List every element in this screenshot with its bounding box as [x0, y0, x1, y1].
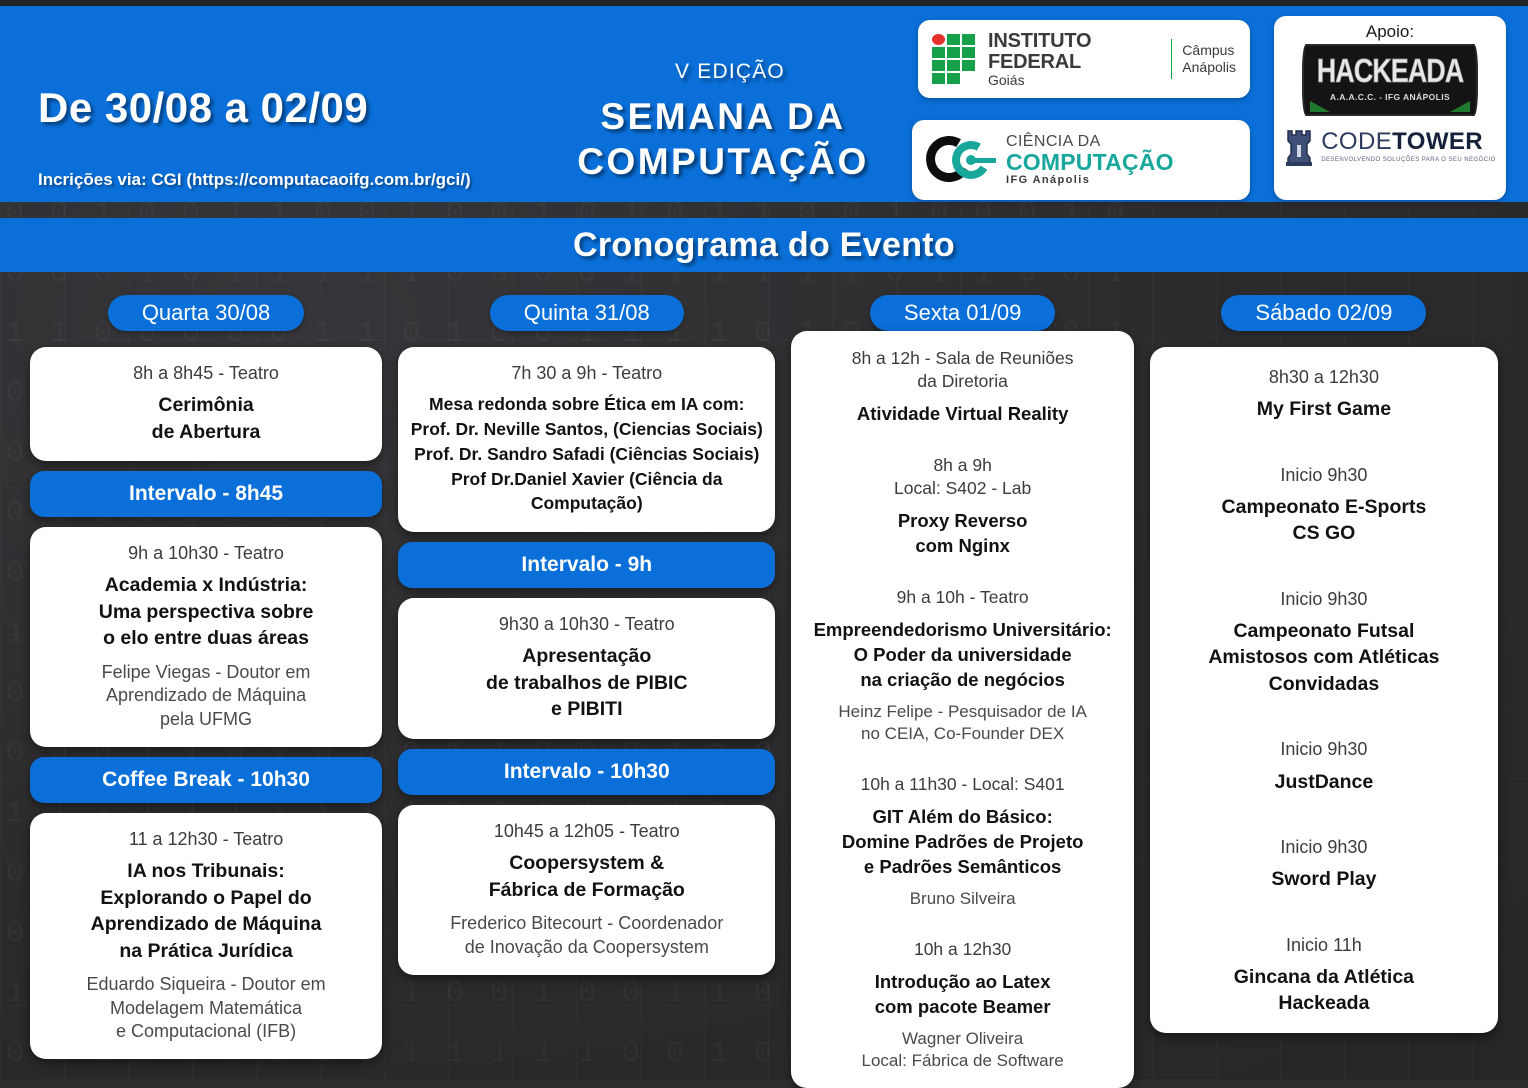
session-card[interactable]: 8h a 8h45 - TeatroCerimôniade Abertura: [30, 347, 382, 461]
session-title: Empreendedorismo Universitário:O Poder d…: [803, 617, 1121, 692]
session-time: Inicio 9h30: [1162, 835, 1486, 859]
session-title: Introdução ao Latexcom pacote Beamer: [803, 969, 1121, 1019]
day-column-3: Sexta 01/098h a 12h - Sala de Reuniõesda…: [783, 272, 1141, 1080]
session-card[interactable]: 9h a 10h30 - TeatroAcademia x Indústria:…: [30, 527, 382, 747]
session-time: 8h a 12h - Sala de Reuniõesda Diretoria: [803, 347, 1121, 394]
session-entry: 8h a 9hLocal: S402 - LabProxy Reversocom…: [803, 454, 1121, 558]
hackeada-wing-left-icon: [1310, 101, 1330, 112]
hackeada-logo: HACKEADA A.A.A.C.C. - IFG ANÁPOLIS: [1302, 44, 1478, 116]
instituto-federal-campus-line-2: Anápolis: [1182, 59, 1236, 77]
session-title: Campeonato E-SportsCS GO: [1162, 494, 1486, 547]
session-entry: 8h a 12h - Sala de Reuniõesda DiretoriaA…: [803, 347, 1121, 426]
session-title: My First Game: [1162, 396, 1486, 423]
session-entry: 10h a 12h30Introdução ao Latexcom pacote…: [803, 938, 1121, 1072]
session-spacer: [1162, 423, 1486, 463]
session-title: IA nos Tribunais:Explorando o Papel doAp…: [42, 858, 370, 964]
session-time: 9h a 10h - Teatro: [803, 586, 1121, 609]
event-name-line-1: SEMANA DA: [518, 94, 928, 139]
logo-divider: [1171, 39, 1173, 79]
day-column-4: Sábado 02/098h30 a 12h30My First GameIni…: [1142, 272, 1506, 1080]
session-speaker: Felipe Viegas - Doutor emAprendizado de …: [42, 661, 370, 731]
schedule-columns: Quarta 30/088h a 8h45 - TeatroCerimôniad…: [0, 272, 1528, 1080]
poster-header: De 30/08 a 02/09 Incrições via: CGI (htt…: [0, 6, 1528, 202]
session-title: JustDance: [1162, 769, 1486, 796]
session-title: GIT Além do Básico:Domine Padrões de Pro…: [803, 804, 1121, 879]
session-title: Apresentaçãode trabalhos de PIBICe PIBIT…: [410, 643, 763, 723]
event-name: SEMANA DA COMPUTAÇÃO: [518, 94, 928, 184]
session-spacer: [1162, 547, 1486, 587]
session-title: Cerimôniade Abertura: [42, 392, 370, 445]
session-card[interactable]: 7h 30 a 9h - TeatroMesa redonda sobre Ét…: [398, 347, 775, 532]
session-card[interactable]: 8h30 a 12h30My First GameInicio 9h30Camp…: [1150, 347, 1498, 1033]
session-time: 7h 30 a 9h - Teatro: [410, 361, 763, 385]
session-time: Inicio 11h: [1162, 933, 1486, 957]
session-entry: Inicio 11hGincana da AtléticaHackeada: [1162, 933, 1486, 1017]
session-spacer: [803, 910, 1121, 938]
session-entry: 9h a 10h - TeatroEmpreendedorismo Univer…: [803, 586, 1121, 745]
codetower-word-code: CODE: [1321, 128, 1392, 155]
session-entry: 11 a 12h30 - TeatroIA nos Tribunais:Expl…: [42, 827, 370, 1043]
codetower-tagline: DESENVOLVENDO SOLUÇÕES PARA O SEU NEGÓCI…: [1321, 157, 1496, 163]
session-speaker: Bruno Silveira: [803, 888, 1121, 910]
session-title: Campeonato FutsalAmistosos com Atléticas…: [1162, 618, 1486, 698]
session-time: Inicio 9h30: [1162, 737, 1486, 761]
session-time: 9h a 10h30 - Teatro: [42, 541, 370, 565]
break-bar[interactable]: Intervalo - 10h30: [398, 749, 775, 795]
session-card[interactable]: 9h30 a 10h30 - TeatroApresentaçãode trab…: [398, 598, 775, 739]
instituto-federal-logo: INSTITUTO FEDERAL Goiás Câmpus Anápolis: [918, 20, 1250, 98]
session-time: Inicio 9h30: [1162, 587, 1486, 611]
session-spacer: [1162, 697, 1486, 737]
break-bar[interactable]: Intervalo - 8h45: [30, 471, 382, 517]
schedule-banner-title: Cronograma do Evento: [573, 226, 955, 265]
session-spacer: [803, 558, 1121, 586]
session-title: Mesa redonda sobre Ética em IA com:Prof.…: [410, 392, 763, 516]
session-title: Academia x Indústria:Uma perspectiva sob…: [42, 572, 370, 652]
cc-line-2: COMPUTAÇÃO: [1006, 151, 1174, 175]
instituto-federal-state: Goiás: [988, 73, 1161, 88]
session-spacer: [1162, 893, 1486, 933]
session-entry: Inicio 9h30Campeonato FutsalAmistosos co…: [1162, 587, 1486, 698]
session-title: Proxy Reversocom Nginx: [803, 508, 1121, 558]
session-entry: 8h a 8h45 - TeatroCerimôniade Abertura: [42, 361, 370, 445]
day-column-1: Quarta 30/088h a 8h45 - TeatroCerimôniad…: [22, 272, 390, 1080]
session-spacer: [1162, 795, 1486, 835]
session-entry: 10h a 11h30 - Local: S401GIT Além do Bás…: [803, 773, 1121, 910]
instituto-federal-grid-icon: [932, 34, 978, 84]
session-time: 10h a 11h30 - Local: S401: [803, 773, 1121, 796]
session-spacer: [803, 426, 1121, 454]
session-title: Atividade Virtual Reality: [803, 401, 1121, 426]
hackeada-name: HACKEADA: [1317, 55, 1464, 89]
cc-line-3: IFG Anápolis: [1006, 175, 1174, 186]
ciencia-computacao-logo: CIÊNCIA DA COMPUTAÇÃO IFG Anápolis: [912, 120, 1250, 200]
session-title: Gincana da AtléticaHackeada: [1162, 964, 1486, 1017]
day-header-pill[interactable]: Quarta 30/08: [108, 295, 304, 331]
chess-rook-icon: [1284, 125, 1314, 167]
session-entry: Inicio 9h30JustDance: [1162, 737, 1486, 795]
sponsors-card: Apoio: HACKEADA A.A.A.C.C. - IFG ANÁPOLI…: [1274, 16, 1506, 200]
top-dark-strip: [0, 0, 1528, 6]
session-time: 8h a 8h45 - Teatro: [42, 361, 370, 385]
event-dates-title: De 30/08 a 02/09: [38, 84, 368, 132]
session-card[interactable]: 10h45 a 12h05 - TeatroCoopersystem &Fábr…: [398, 805, 775, 975]
day-header-pill[interactable]: Sábado 02/09: [1221, 295, 1426, 331]
day-header-pill[interactable]: Sexta 01/09: [870, 295, 1055, 331]
session-spacer: [803, 745, 1121, 773]
inscription-link-text[interactable]: Incrições via: CGI (https://computacaoif…: [38, 170, 471, 190]
session-speaker: Frederico Bitecourt - Coordenadorde Inov…: [410, 912, 763, 959]
session-speaker: Eduardo Siqueira - Doutor emModelagem Ma…: [42, 973, 370, 1043]
session-entry: 9h30 a 10h30 - TeatroApresentaçãode trab…: [410, 612, 763, 723]
session-entry: Inicio 9h30Sword Play: [1162, 835, 1486, 893]
break-bar[interactable]: Coffee Break - 10h30: [30, 757, 382, 803]
schedule-banner: Cronograma do Evento: [0, 218, 1528, 272]
session-card[interactable]: 11 a 12h30 - TeatroIA nos Tribunais:Expl…: [30, 813, 382, 1059]
session-entry: 8h30 a 12h30My First Game: [1162, 365, 1486, 423]
session-speaker: Wagner OliveiraLocal: Fábrica de Softwar…: [803, 1028, 1121, 1072]
hackeada-wing-right-icon: [1450, 101, 1470, 112]
session-entry: 10h45 a 12h05 - TeatroCoopersystem &Fábr…: [410, 819, 763, 959]
cc-double-c-icon: [926, 135, 1002, 185]
codetower-word-tower: TOWER: [1392, 128, 1483, 155]
session-time: 10h a 12h30: [803, 938, 1121, 961]
session-time: 8h a 9hLocal: S402 - Lab: [803, 454, 1121, 501]
session-entry: Inicio 9h30Campeonato E-SportsCS GO: [1162, 463, 1486, 547]
session-time: Inicio 9h30: [1162, 463, 1486, 487]
day-header-pill[interactable]: Quinta 31/08: [490, 295, 684, 331]
hackeada-subtitle: A.A.A.C.C. - IFG ANÁPOLIS: [1330, 92, 1450, 102]
day-column-2: Quinta 31/087h 30 a 9h - TeatroMesa redo…: [390, 272, 783, 1080]
session-entry: 7h 30 a 9h - TeatroMesa redonda sobre Ét…: [410, 361, 763, 516]
session-title: Sword Play: [1162, 866, 1486, 893]
session-title: Coopersystem &Fábrica de Formação: [410, 850, 763, 903]
session-time: 8h30 a 12h30: [1162, 365, 1486, 389]
break-bar[interactable]: Intervalo - 9h: [398, 542, 775, 588]
session-speaker: Heinz Felipe - Pesquisador de IAno CEIA,…: [803, 701, 1121, 745]
event-name-line-2: COMPUTAÇÃO: [518, 139, 928, 184]
codetower-logo: CODETOWER DESENVOLVENDO SOLUÇÕES PARA O …: [1284, 125, 1496, 167]
edition-label: V EDIÇÃO: [540, 60, 920, 84]
session-time: 11 a 12h30 - Teatro: [42, 827, 370, 851]
instituto-federal-campus-line-1: Câmpus: [1182, 42, 1236, 60]
session-entry: 9h a 10h30 - TeatroAcademia x Indústria:…: [42, 541, 370, 731]
session-time: 9h30 a 10h30 - Teatro: [410, 612, 763, 636]
apoio-label: Apoio:: [1366, 22, 1414, 42]
session-time: 10h45 a 12h05 - Teatro: [410, 819, 763, 843]
session-card[interactable]: 8h a 12h - Sala de Reuniõesda DiretoriaA…: [791, 331, 1133, 1088]
instituto-federal-name: INSTITUTO FEDERAL: [988, 31, 1161, 73]
